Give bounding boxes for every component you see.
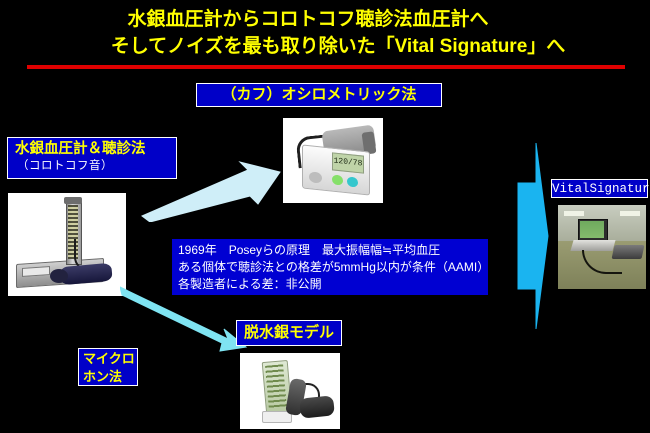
arrow-to-oscillometric-icon (140, 160, 285, 222)
arrow-to-vital-signature-icon (512, 143, 552, 329)
mercury-free-model-label: 脱水銀モデル (236, 320, 342, 346)
mercury-sphygmomanometer-photo (8, 193, 126, 296)
laptop-screen-content (580, 221, 604, 238)
microphone-label-line-1: マイクロ (79, 350, 137, 368)
vital-signature-label: VitalSignature (551, 179, 648, 198)
microphone-label-line-2: ホン法 (79, 368, 137, 386)
monitor-lcd-reading: 120/78 (332, 152, 364, 173)
note-line-1: 1969年 Poseyらの原理 最大振幅幅≒平均血圧 (178, 242, 488, 259)
title-line-1: 水銀血圧計からコロトコフ聴診法血圧計へ (0, 6, 650, 33)
title-divider (27, 65, 625, 69)
arrow-to-mercury-free-icon (120, 285, 255, 355)
mercury-free-bp-device-photo (240, 353, 340, 429)
device-cuff (299, 395, 335, 418)
monitor-button-green (332, 174, 343, 185)
device-display-scale (265, 364, 287, 409)
title-line-2: そしてノイズを最も取り除いた「Vital Signature」へ (0, 33, 650, 60)
ceiling-light-right (620, 211, 640, 216)
mercury-method-title: 水銀血圧計＆聴診法 (8, 141, 176, 158)
inflation-bulb (50, 269, 68, 283)
monitor-button-cyan (347, 176, 358, 187)
page-title: 水銀血圧計からコロトコフ聴診法血圧計へ そしてノイズを最も取り除いた「Vital… (0, 6, 650, 60)
slide-canvas: 水銀血圧計からコロトコフ聴診法血圧計へ そしてノイズを最も取り除いた「Vital… (0, 0, 650, 433)
digital-bp-monitor-photo: 120/78 (283, 118, 383, 203)
mercury-column-top (64, 197, 82, 204)
oscillometric-header-label: （カフ）オシロメトリック法 (196, 83, 442, 107)
microphone-method-label: マイクロ ホン法 (78, 348, 138, 386)
vital-signature-device-photo (558, 205, 646, 289)
measurement-device (612, 245, 645, 259)
note-line-2: ある個体で聴診法との格差が5mmHg以内が条件（AAMI） (178, 259, 488, 276)
ceiling-light-left (564, 211, 584, 216)
